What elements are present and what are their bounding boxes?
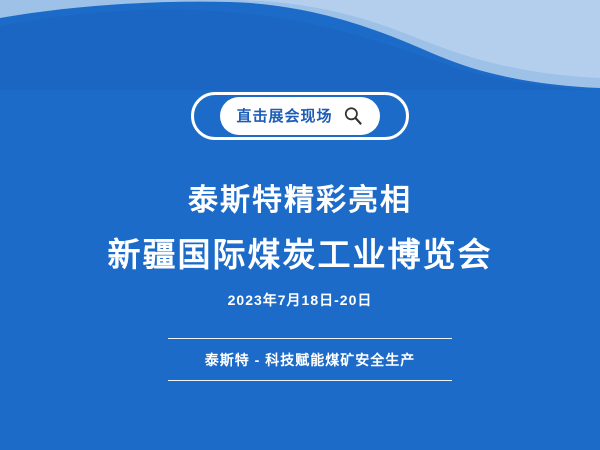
- wave-lighter-band: [0, 0, 600, 78]
- page-title-line2: 新疆国际煤炭工业博览会: [0, 234, 600, 275]
- tagline-block: 泰斯特 - 科技赋能煤矿安全生产: [168, 338, 452, 381]
- search-icon: [342, 105, 364, 127]
- badge-label: 直击展会现场: [236, 109, 332, 124]
- wave-light-band: [0, 0, 600, 90]
- event-date: 2023年7月18日-20日: [0, 293, 600, 307]
- tagline-text: 泰斯特 - 科技赋能煤矿安全生产: [168, 339, 452, 380]
- live-exhibition-badge[interactable]: 直击展会现场: [191, 92, 408, 140]
- divider-bottom: [168, 380, 452, 381]
- poster-banner: 直击展会现场 泰斯特精彩亮相 新疆国际煤炭工业博览会 2023年7月18日-20…: [0, 0, 600, 450]
- wave-base-fill: [0, 0, 600, 90]
- wave-accent-band: [0, 10, 600, 90]
- headline-block: 泰斯特精彩亮相 新疆国际煤炭工业博览会 2023年7月18日-20日: [0, 182, 600, 307]
- badge-container: 直击展会现场: [0, 92, 600, 140]
- page-title-line1: 泰斯特精彩亮相: [0, 182, 600, 220]
- divider-top: [168, 338, 452, 339]
- wave-main-band: [0, 5, 600, 90]
- badge-inner: 直击展会现场: [220, 97, 379, 135]
- wave-decoration: [0, 0, 600, 90]
